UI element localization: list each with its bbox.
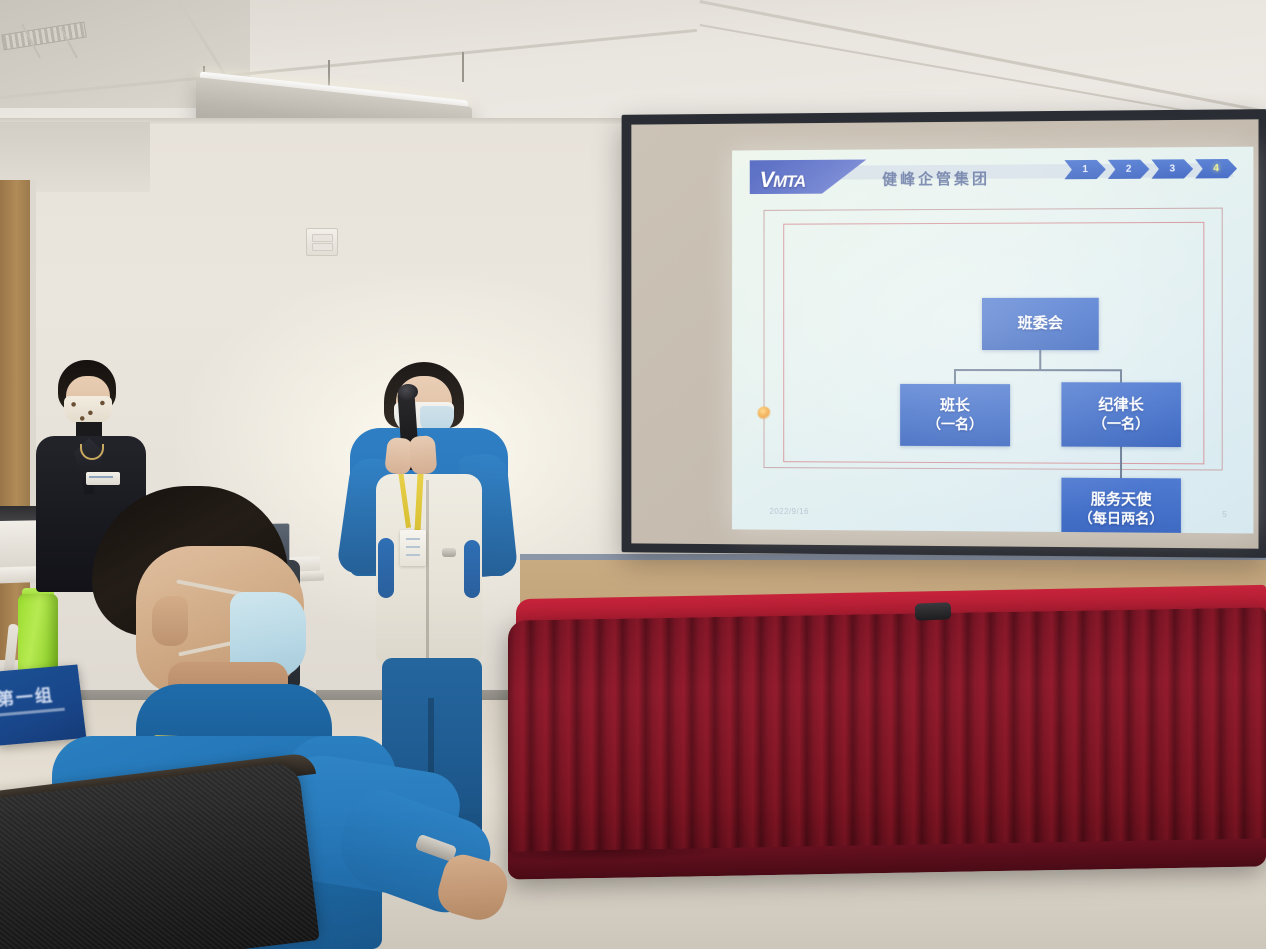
name-badge-line	[89, 476, 113, 478]
slide-step-indicator: 1 2 3 4	[1064, 159, 1237, 179]
classroom-photo-scene: VMTA 健峰企管集团 1 2 3 4	[0, 0, 1266, 949]
org-node-root: 班委会	[982, 298, 1099, 350]
org-node-monitor-line2: （一名）	[927, 416, 983, 433]
step-chevron-3: 3	[1151, 159, 1193, 178]
org-node-monitor: 班长 （一名）	[900, 384, 1010, 446]
logo-initial: V	[760, 167, 773, 192]
step-chevron-1: 1	[1064, 160, 1105, 179]
laser-pointer-dot-icon	[758, 406, 771, 419]
connector-root-down	[1039, 350, 1041, 370]
org-chart: 班委会 班长 （一名） 纪律长 （一名） 服务天使 （每日两名）	[784, 223, 1203, 464]
switch-rocker-icon[interactable]	[312, 234, 333, 242]
connector-horizontal	[954, 369, 1121, 371]
org-node-angel: 服务天使 （每日两名）	[1061, 478, 1181, 534]
red-table-skirt	[508, 607, 1266, 878]
projection-screen-frame: VMTA 健峰企管集团 1 2 3 4	[622, 109, 1266, 558]
ceiling-seam	[699, 0, 1266, 117]
slide-footer-page-number: 5	[1222, 510, 1227, 519]
slide-company-name: 健峰企管集团	[882, 168, 990, 190]
patterned-mask-icon	[64, 396, 112, 424]
org-node-root-line1: 班委会	[1018, 315, 1063, 333]
step-chevron-4: 4	[1195, 159, 1237, 178]
vmta-logo-text: VMTA	[760, 167, 806, 193]
switch-rocker-icon[interactable]	[312, 243, 333, 251]
lamp-rod	[462, 52, 464, 82]
lamp-rod	[328, 60, 330, 86]
step-chevron-2: 2	[1108, 160, 1150, 179]
wall-switch-panel[interactable]	[306, 228, 338, 256]
org-node-discipline: 纪律长 （一名）	[1061, 382, 1181, 447]
connector-to-monitor	[954, 369, 956, 384]
projection-screen-surface: VMTA 健峰企管集团 1 2 3 4	[631, 119, 1258, 548]
connector-to-angel	[1120, 447, 1122, 478]
logo-rest: MTA	[773, 172, 805, 191]
name-badge	[86, 472, 120, 485]
connector-to-discipline	[1120, 369, 1122, 382]
projected-slide: VMTA 健峰企管集团 1 2 3 4	[732, 147, 1253, 534]
right-hand	[409, 435, 438, 475]
slide-footer-date: 2022/9/16	[769, 507, 809, 516]
org-node-monitor-line1: 班长	[940, 397, 970, 415]
org-node-discipline-line1: 纪律长	[1098, 397, 1144, 416]
org-node-angel-line2: （每日两名）	[1079, 510, 1164, 528]
org-node-discipline-line2: （一名）	[1093, 415, 1150, 432]
slide-header: VMTA 健峰企管集团 1 2 3 4	[732, 157, 1253, 194]
org-node-angel-line1: 服务天使	[1091, 491, 1152, 510]
presenter-remote-icon[interactable]	[915, 602, 951, 620]
slide-inner-border: 班委会 班长 （一名） 纪律长 （一名） 服务天使 （每日两名）	[783, 222, 1204, 465]
ear	[152, 596, 188, 646]
